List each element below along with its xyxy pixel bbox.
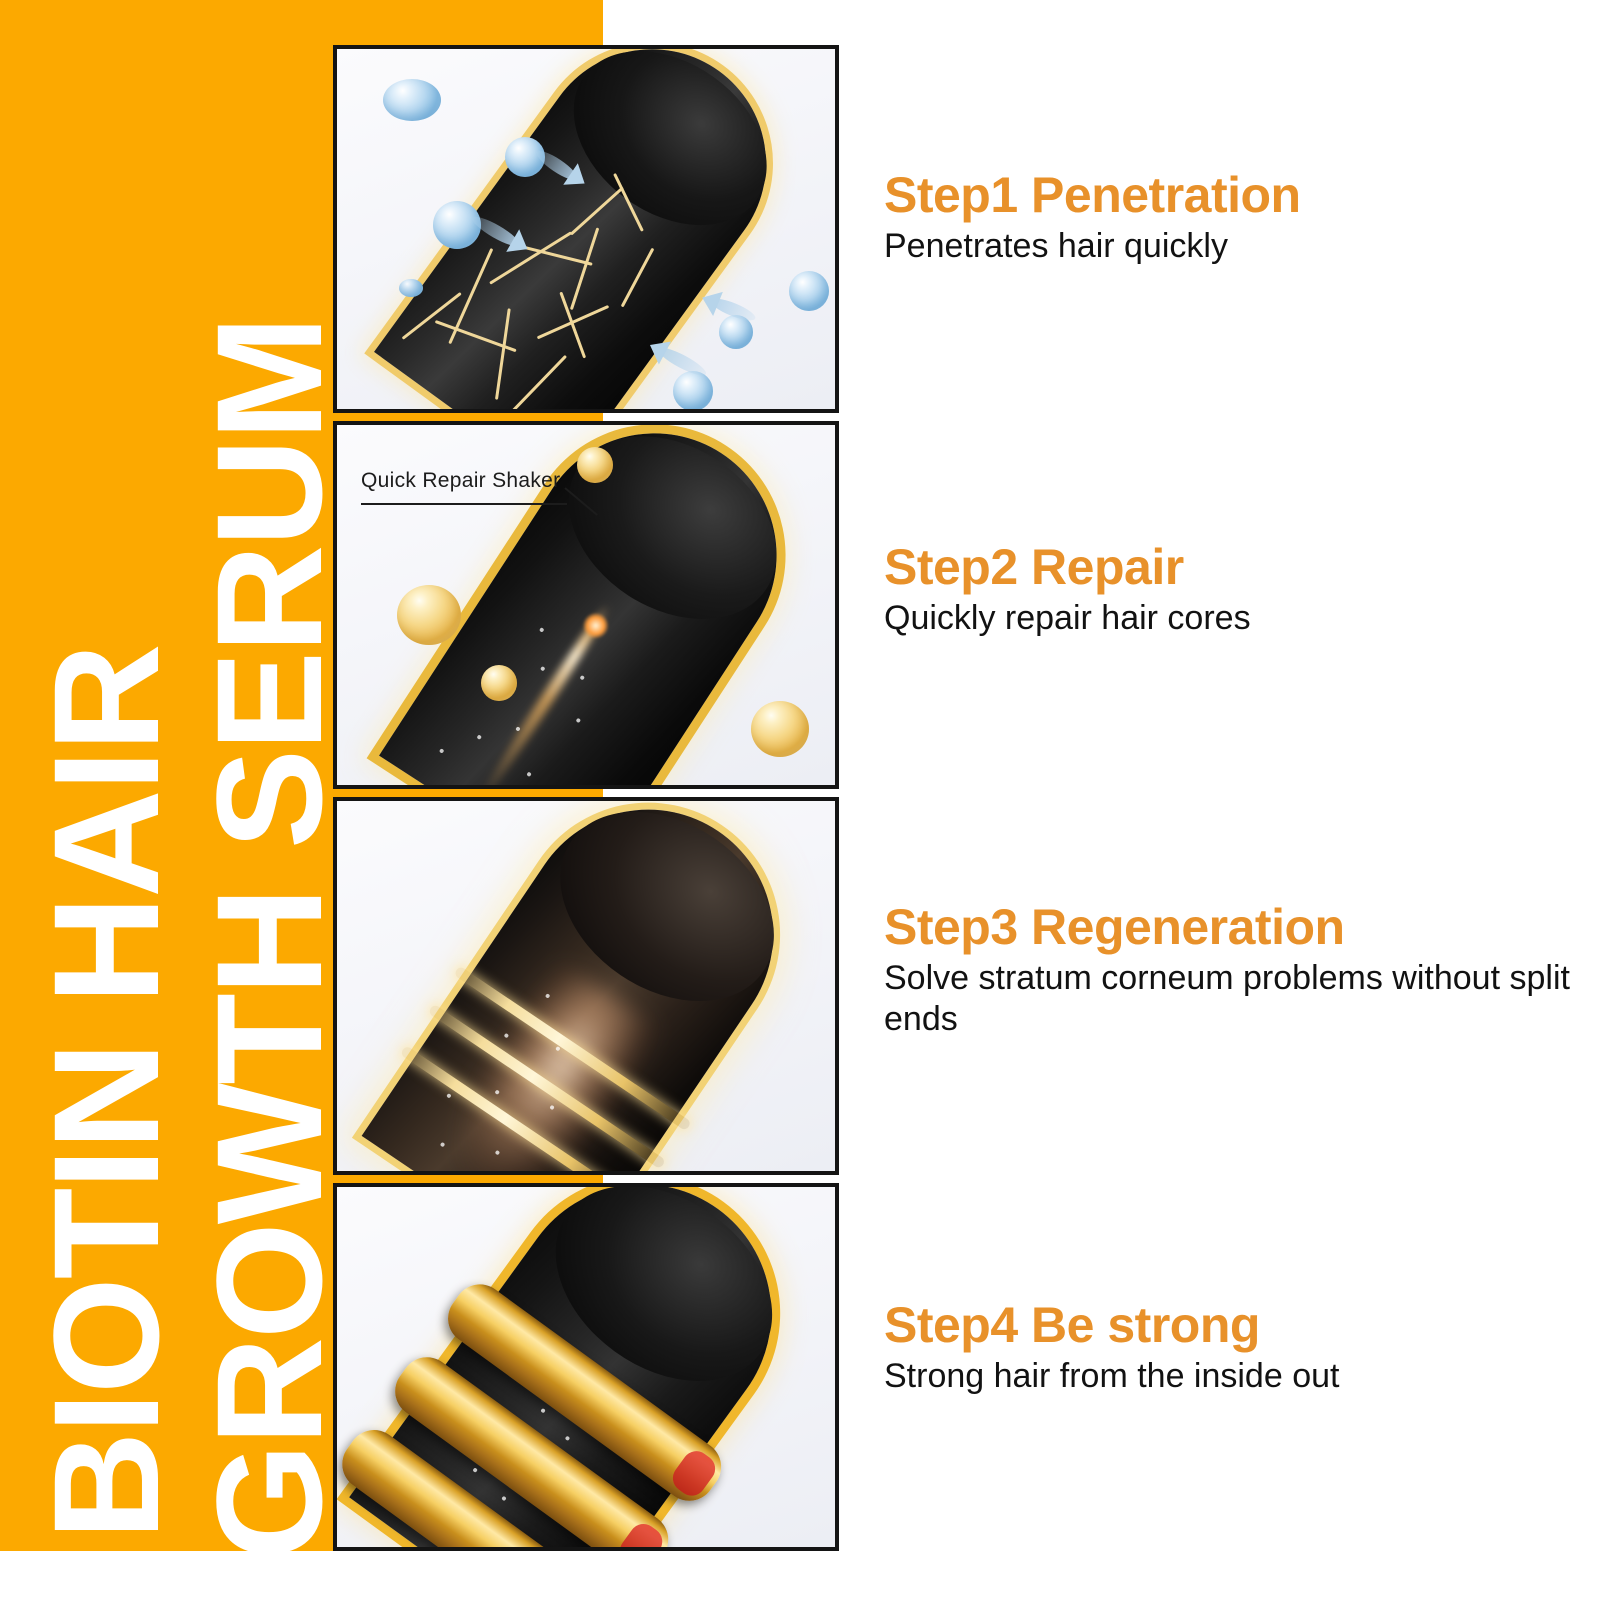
serum-droplet-blue — [399, 279, 423, 297]
serum-droplet-blue — [433, 201, 481, 249]
step-title-2: Step2 Repair — [884, 540, 1584, 594]
step-description-1: Penetrates hair quickly — [884, 226, 1584, 267]
step-description-3: Solve stratum corneum problems without s… — [884, 958, 1584, 1041]
hair-strand-regenerating-icon — [362, 801, 822, 1171]
callout-quick-repair-shaker: Quick Repair Shaker — [361, 469, 560, 493]
serum-droplet-blue — [673, 371, 713, 409]
callout-label-text: Quick Repair Shaker — [361, 469, 560, 493]
serum-droplet-blue — [383, 79, 441, 121]
illustration-panel-column: Quick Repair Shaker — [333, 45, 839, 1551]
panel-1-artwork — [337, 49, 835, 409]
step-text-block-3: Step3 Regeneration Solve stratum corneum… — [884, 900, 1584, 1041]
step-title-3: Step3 Regeneration — [884, 900, 1584, 954]
step-description-2: Quickly repair hair cores — [884, 598, 1584, 639]
illustration-panel-step-1 — [333, 45, 839, 413]
serum-droplet-gold — [397, 585, 461, 645]
steps-text-column: Step1 Penetration Penetrates hair quickl… — [884, 0, 1600, 1600]
illustration-panel-step-2: Quick Repair Shaker — [333, 421, 839, 789]
step-title-4: Step4 Be strong — [884, 1298, 1584, 1352]
callout-leader-line — [361, 503, 567, 505]
step-text-block-2: Step2 Repair Quickly repair hair cores — [884, 540, 1584, 639]
hair-strand-strong-icon — [349, 1187, 822, 1547]
panel-4-artwork — [337, 1187, 835, 1547]
brand-title-line-1: BIOTIN HAIR — [42, 645, 171, 1540]
serum-droplet-blue — [789, 271, 829, 311]
illustration-panel-step-4 — [333, 1183, 839, 1551]
panel-2-artwork: Quick Repair Shaker — [337, 425, 835, 785]
panel-3-artwork — [337, 801, 835, 1171]
step-description-4: Strong hair from the inside out — [884, 1356, 1584, 1397]
brand-title-line-2: GROWTH SERUM — [205, 317, 334, 1560]
illustration-panel-step-3 — [333, 797, 839, 1175]
serum-droplet-gold — [481, 665, 517, 701]
step-text-block-1: Step1 Penetration Penetrates hair quickl… — [884, 168, 1584, 267]
serum-droplet-gold — [577, 447, 613, 483]
serum-droplet-gold — [751, 701, 809, 757]
step-title-1: Step1 Penetration — [884, 168, 1584, 222]
step-text-block-4: Step4 Be strong Strong hair from the ins… — [884, 1298, 1584, 1397]
